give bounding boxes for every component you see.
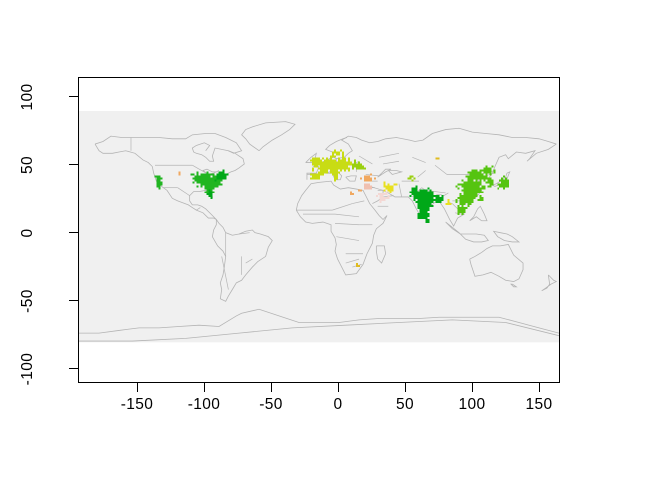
map-background-band xyxy=(79,111,559,342)
x-tick-mark xyxy=(539,383,540,392)
y-axis-label: 100 xyxy=(19,67,37,127)
y-tick-mark xyxy=(69,368,78,369)
x-tick-mark xyxy=(137,383,138,392)
x-tick-mark xyxy=(472,383,473,392)
map-plot-region[interactable] xyxy=(78,77,560,383)
figure-canvas: 100 50 0 -50 -100 -150 -100 -50 0 50 100… xyxy=(0,0,672,480)
x-axis-label: -150 xyxy=(102,396,172,414)
world-map-svg xyxy=(79,78,559,382)
x-axis-label: 0 xyxy=(303,396,373,414)
x-tick-mark xyxy=(271,383,272,392)
x-axis-label: 150 xyxy=(504,396,574,414)
x-tick-mark xyxy=(338,383,339,392)
x-axis-label: 50 xyxy=(370,396,440,414)
x-axis-label: 100 xyxy=(437,396,507,414)
y-tick-mark xyxy=(69,96,78,97)
y-tick-mark xyxy=(69,164,78,165)
y-axis-label: 0 xyxy=(19,203,37,263)
y-axis-label: 50 xyxy=(19,135,37,195)
x-tick-mark xyxy=(204,383,205,392)
y-axis-label: -50 xyxy=(19,271,37,331)
y-tick-mark xyxy=(69,300,78,301)
x-axis-label: -50 xyxy=(236,396,306,414)
y-tick-mark xyxy=(69,232,78,233)
y-axis-label: -100 xyxy=(19,339,37,399)
x-tick-mark xyxy=(405,383,406,392)
x-axis-label: -100 xyxy=(169,396,239,414)
